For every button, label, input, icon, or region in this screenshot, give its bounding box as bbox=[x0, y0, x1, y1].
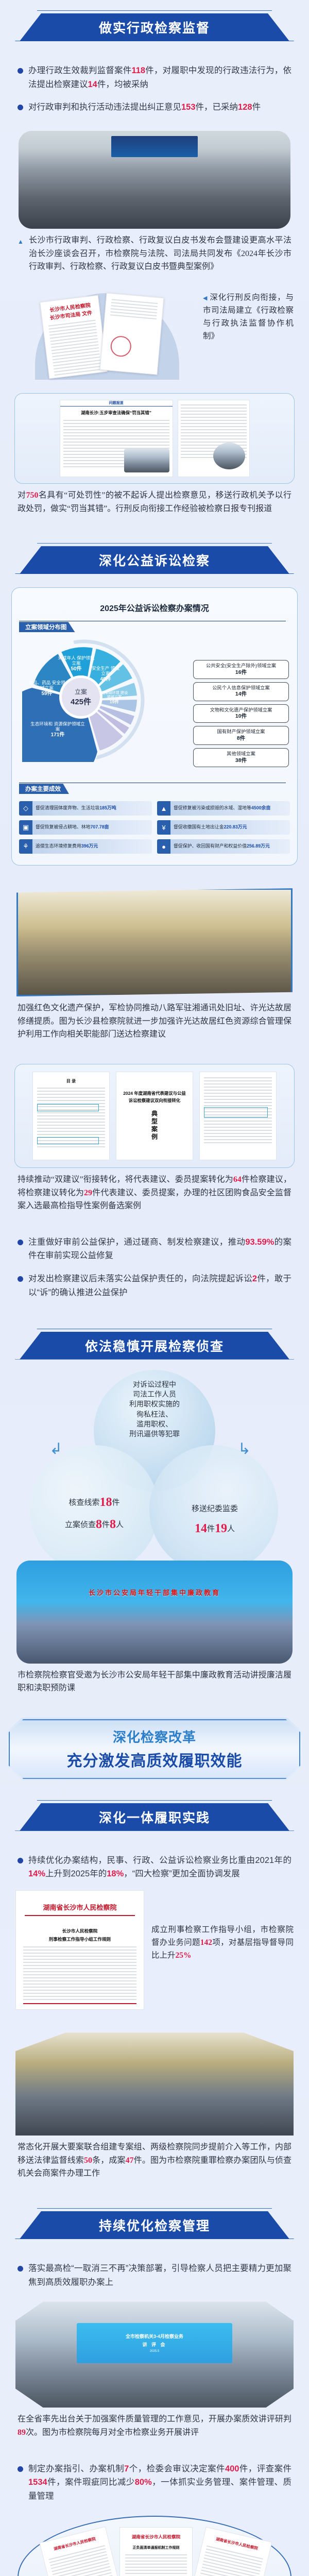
yuan-icon: ¥ bbox=[157, 820, 170, 835]
spacer bbox=[0, 380, 309, 393]
bullet-item: 落实最高检“一取消三不再”决策部署，引导检察人员把主要精力更加聚焦到高质效履职办… bbox=[18, 2262, 291, 2289]
bullet-text: 注重做好审前公益保护，通过磋商、制发检察建议，推动93.59%的案件在审前实现公… bbox=[28, 1235, 291, 1263]
waste-icon: ◇ bbox=[19, 801, 32, 816]
effect-text: 督促收缴国有土地出让金220.83万元 bbox=[170, 820, 290, 835]
document-fan: 长沙市人民检察院长沙市司法局 文件 bbox=[15, 287, 196, 380]
doc-title: 正负面清单通报机制工作规则 bbox=[120, 2540, 192, 2550]
photo-block-red-heritage bbox=[0, 888, 309, 996]
triangle-marker-icon: ▲ bbox=[18, 237, 25, 274]
photo-caption-police-training: 市检察院检察官受邀为长沙市公安局年轻干部集中廉政教育活动讲授廉洁履职和渎职预防课 bbox=[0, 1664, 309, 1695]
subhead-distribution: 立案领域分布图 bbox=[19, 621, 290, 632]
books-panel: 目 录 2024 年度湖南省代表建议与公益诉讼检察建议双向衔接转化 典型案例 bbox=[14, 1064, 295, 1168]
spacer bbox=[0, 2180, 309, 2211]
bullet-list-administrative: 办理行政生效裁判监督案件118件，对履职中发现的行政违法行为，依法提出检察建议1… bbox=[0, 64, 309, 114]
venn-left-row-2: 立案侦查8件8人 bbox=[34, 1518, 154, 1532]
spacer bbox=[0, 1041, 309, 1064]
eco-icon: ⚘ bbox=[19, 839, 32, 854]
newspaper-headline: 湖南长沙:五步审查法确保“罚当其错” bbox=[60, 406, 173, 417]
newspaper-page-1: 问题报道 湖南长沙:五步审查法确保“罚当其错” bbox=[60, 400, 173, 477]
spacer bbox=[0, 515, 309, 546]
venn-right-text: 移送纪委监委 14件19人 bbox=[154, 1503, 275, 1536]
newspaper-page-2 bbox=[178, 400, 250, 477]
callout-personal-info: 公民个人信息保护领域立案 14件 bbox=[193, 682, 289, 701]
bullet-dot-icon bbox=[18, 1858, 23, 1863]
banner-title: 依法稳慎开展检察侦查 bbox=[85, 1336, 224, 1355]
spacer bbox=[0, 1695, 309, 1718]
center-caption: 立案 bbox=[75, 687, 87, 696]
rules-doc-center: 湖南省长沙市人民检察院 正负面清单通报机制工作规则 bbox=[119, 2527, 193, 2576]
farmland-icon: ▣ bbox=[19, 820, 32, 835]
venn-diagram-investigation: ↲ ↲ 对诉讼过程中司法工作人员利用职权实施的徇私枉法、滥用职权、刑讯逼供等犯罪… bbox=[0, 1368, 309, 1538]
bullet-item: 对行政审判和执行活动违法提出纠正意见153件，已采纳128件 bbox=[18, 100, 291, 114]
document-red-title: 长沙市人民检察院长沙市司法局 文件 bbox=[40, 296, 100, 322]
spacer bbox=[0, 574, 309, 587]
venn-right-row-1: 移送纪委监委 bbox=[154, 1503, 275, 1514]
subhead-rule bbox=[19, 621, 286, 621]
case-meeting-photo bbox=[15, 2032, 294, 2136]
screen-line-1: 全市检察机关3-4月检察业务 bbox=[126, 2333, 183, 2340]
photo-block-case-meeting bbox=[0, 2032, 309, 2136]
newspaper-panel: 问题报道 湖南长沙:五步审查法确保“罚当其错” bbox=[14, 393, 295, 484]
slice-label-food-drug: 食品、药品 安全领域立案 59件 bbox=[27, 681, 66, 697]
bullet-dot-icon bbox=[18, 1240, 23, 1245]
section-banner-public-interest: 深化公益诉讼检察 bbox=[0, 546, 309, 574]
center-value: 425件 bbox=[71, 696, 91, 707]
highlight-box bbox=[37, 1137, 99, 1144]
photo-block-review-meeting: 全市检察机关3-4月检察业务 讲 评 会 2025.5 bbox=[0, 2298, 309, 2408]
chart-title: 2025年公益诉讼检察办案情况 bbox=[19, 601, 290, 614]
photo-caption-whitepaper: ▲ 长沙市行政审判、行政检察、行政复议白皮书发布会暨建设更高水平法治长沙座谈会召… bbox=[0, 229, 309, 274]
water-icon: ▲ bbox=[157, 801, 170, 816]
spacer bbox=[0, 274, 309, 287]
rules-doc-fan: 湖南省长沙市人民检察院 湖南省长沙市人民检察院 正负面清单通报机制工作规则 湖南… bbox=[0, 2513, 309, 2576]
bullet-item: 制定办案指引、办案机制7个，检委会审议决定案件400件，评查案件1534件，案件… bbox=[18, 2462, 291, 2503]
photo-block-police-training: 长沙市公安局年轻干部集中廉政教育 bbox=[0, 1561, 309, 1664]
book-page-toc: 目 录 bbox=[32, 1072, 110, 1160]
effect-chip: ¥ 督促收缴国有土地出让金220.83万元 bbox=[157, 820, 290, 835]
document-page-left: 长沙市人民检察院长沙市司法局 文件 bbox=[40, 295, 107, 379]
moneybag-icon: ● bbox=[157, 839, 170, 854]
slice-label-accessibility: 无障碍环境 建设领域立案 19件 bbox=[99, 691, 129, 704]
bullet-text: 对发出检察建议后未落实公益保护责任的，向法院提起诉讼2件，敢于以“诉”的确认推进… bbox=[28, 1272, 291, 1299]
toc-heading: 目 录 bbox=[33, 1072, 109, 1084]
doc-red-title: 湖南省长沙市人民检察院 bbox=[120, 2528, 192, 2540]
spacer bbox=[0, 866, 309, 888]
bullet-item: 对发出检察建议后未落实公益保护责任的，向法院提起诉讼2件，敢于以“诉”的确认推进… bbox=[18, 1272, 291, 1299]
venn-left-text: 核查线索18件 立案侦查8件8人 bbox=[34, 1496, 154, 1532]
photo-caption-case-meeting: 常态化开展大要案联合组建专案组、两级检察院同步提前介入等工作，内部移送法律监督线… bbox=[0, 2136, 309, 2180]
spacer bbox=[0, 1831, 309, 1854]
banner-title: 深化一体履职实践 bbox=[99, 1808, 210, 1826]
slice-label-ecology: 生态环境和 资源保护领域立案 171件 bbox=[30, 722, 85, 738]
screen-date: 2025.5 bbox=[150, 2350, 159, 2353]
bullet-text: 落实最高检“一取消三不再”决策部署，引导检察人员把主要精力更加聚焦到高质效履职办… bbox=[28, 2262, 291, 2289]
spacer bbox=[0, 2439, 309, 2462]
triangle-marker-icon: ◀ bbox=[203, 295, 208, 301]
newspaper-inset-photo bbox=[124, 449, 169, 472]
caption-dual-suggestions: 持续推动“双建议”衔接转化，将代表建议、委员提案转化为64件检察建议，将检察建议… bbox=[0, 1168, 309, 1213]
callout-state-property: 国有财产保护领域立案 8件 bbox=[193, 726, 289, 745]
highlight-box bbox=[37, 1104, 99, 1111]
slice-label-safety-production: 安全生产 领域立案 40件 bbox=[91, 666, 120, 682]
banner-title: 持续优化检察管理 bbox=[99, 2216, 210, 2234]
banner-title: 深化公益诉讼检察 bbox=[99, 551, 210, 569]
caption-reverse-linkage: 对750名具有“可处罚性”的被不起诉人提出检察意见，移送行政机关予以行政处罚，做… bbox=[0, 484, 309, 515]
effect-chip: ⚘ 追偿生态环境修复费用396万元 bbox=[19, 839, 152, 854]
mega-banner-line-1: 深化检察改革 bbox=[113, 1727, 196, 1746]
bullet-list-integrated-duty: 持续优化办案结构，民事、行政、公益诉讼检察业务比重由2021年的14%上升到20… bbox=[0, 1854, 309, 1881]
effect-chip: ▣ 督促恢复被侵占耕地、林地707.78亩 bbox=[19, 820, 152, 835]
callout-other: 其他领域立案 38件 bbox=[193, 748, 289, 767]
document-title-2: 刑事检察工作指导小组工作规则 bbox=[16, 1936, 144, 1943]
cooperation-text-body: 深化行刑反向衔接，与市司法局建立《行政检察与行政执法监督协作机制》 bbox=[203, 293, 294, 341]
venn-left-row-1: 核查线索18件 bbox=[34, 1496, 154, 1510]
spacer bbox=[0, 1309, 309, 1332]
newspaper-inset-photo-round bbox=[213, 443, 245, 469]
document-footer-rule bbox=[23, 2003, 136, 2004]
spacer bbox=[0, 1781, 309, 1803]
bullet-text: 办理行政生效裁判监督案件118件，对履职中发现的行政违法行为，依法提出检察建议1… bbox=[28, 64, 291, 91]
doc-and-text-cooperation: 长沙市人民检察院长沙市司法局 文件 ◀深化行刑反向衔接，与市司法局建立《行政检察… bbox=[0, 287, 309, 380]
effect-chip-grid: ◇ 督促清理固体废弃物、生活垃圾185万吨 ▲ 督促修复被污染或损毁的水域、湿地… bbox=[19, 801, 290, 854]
screen-banner-text: 长沙市公安局年轻干部集中廉政教育 bbox=[16, 1587, 293, 1597]
cooperation-text: ◀深化行刑反向衔接，与市司法局建立《行政检察与行政执法监督协作机制》 bbox=[203, 287, 294, 343]
doc-and-text-guidance: 湖南省长沙市人民检察院 长沙市人民检察院 刑事检察工作指导小组工作规则 成立刑事… bbox=[0, 1890, 309, 2010]
banner-title: 做实行政检察监督 bbox=[99, 18, 210, 37]
mega-section-banner-reform: 深化检察改革 充分激发高质效履职效能 bbox=[7, 1718, 302, 1781]
photo-block-whitepaper bbox=[0, 124, 309, 229]
arrow-left-icon: ↲ bbox=[49, 1440, 62, 1458]
arrow-right-icon: ↲ bbox=[238, 1440, 251, 1458]
effect-text: 追偿生态环境修复费用396万元 bbox=[32, 839, 152, 854]
subhead-tag: 立案领域分布图 bbox=[19, 622, 75, 632]
spacer bbox=[0, 2239, 309, 2262]
conference-photo bbox=[19, 131, 290, 229]
effect-text: 督促保护、收回国有财产和权益价值256.89万元 bbox=[170, 839, 290, 854]
callout-cultural-heritage: 文物和文化遗产保护领域立案 10件 bbox=[193, 704, 289, 723]
donut-chart: 立案 425件 食品、药品 安全领域立案 59件 未成年人 保护领域立案 50件… bbox=[19, 635, 290, 773]
document-lines bbox=[48, 320, 101, 372]
photo-caption-review-meeting: 在全省率先出台关于加强案件质量管理的工作意见，开展办案质效讲评研判89次。图为市… bbox=[0, 2408, 309, 2439]
doc-lines bbox=[125, 2554, 187, 2576]
document-page-right bbox=[100, 293, 164, 375]
bullet-dot-icon bbox=[18, 1276, 23, 1282]
screen-line-2: 讲 评 会 bbox=[142, 2341, 166, 2348]
photo-caption-red-heritage: 加强红色文化遗产保护，军检协同推动八路军驻湘通讯处旧址、许光达故居修缮提质。图为… bbox=[0, 996, 309, 1041]
chart-card-public-interest: 2025年公益诉讼检察办案情况 立案领域分布图 bbox=[11, 587, 298, 866]
section-banner-administrative: 做实行政检察监督 bbox=[0, 13, 309, 41]
venn-top-text: 对诉讼过程中司法工作人员利用职权实施的徇私枉法、滥用职权、刑讯逼供等犯罪 bbox=[101, 1380, 208, 1440]
effect-text: 督促清理固体废弃物、生活垃圾185万吨 bbox=[32, 801, 152, 816]
mega-banner-line-2: 充分激发高质效履职效能 bbox=[67, 1748, 243, 1771]
bullet-dot-icon bbox=[18, 105, 23, 110]
signing-photo bbox=[16, 888, 293, 996]
newspaper-kicker: 问题报道 bbox=[109, 400, 124, 405]
bullet-item: 注重做好审前公益保护，通过磋商、制发检察建议，推动93.59%的案件在审前实现公… bbox=[18, 1235, 291, 1263]
caption-text: 长沙市行政审判、行政检察、行政复议白皮书发布会暨建设更高水平法治长沙座谈会召开，… bbox=[29, 234, 291, 274]
document-red-header: 湖南省长沙市人民检察院 bbox=[16, 1891, 144, 1912]
bullet-text: 对行政审判和执行活动违法提出纠正意见153件，已采纳128件 bbox=[28, 100, 261, 114]
book-title: 2024 年度湖南省代表建议与公益诉讼检察建议双向衔接转化 bbox=[116, 1090, 193, 1104]
bullet-item: 办理行政生效裁判监督案件118件，对履职中发现的行政违法行为，依法提出检察建议1… bbox=[18, 64, 291, 91]
highlight-box bbox=[204, 1107, 268, 1117]
effect-chip: ▲ 督促修复被污染或损毁的水域、湿地等4500余亩 bbox=[157, 801, 290, 816]
bullet-list-management-2: 制定办案指引、办案机制7个，检委会审议决定案件400件，评查案件1534件，案件… bbox=[0, 2462, 309, 2503]
chart-callout-list: 公共安全(安全生产除外)领域立案 16件 公民个人信息保护领域立案 14件 文物… bbox=[193, 660, 289, 767]
slice-label-minors: 未成年人 保护领域立案 50件 bbox=[57, 656, 95, 672]
document-lines bbox=[106, 299, 158, 367]
effect-text: 督促修复被污染或损毁的水域、湿地等4500余亩 bbox=[170, 801, 290, 816]
spacer bbox=[0, 1213, 309, 1235]
subhead-tag: 办案主要成效 bbox=[19, 784, 69, 794]
effect-text: 督促恢复被侵占耕地、林地707.78亩 bbox=[32, 820, 152, 835]
police-training-photo: 长沙市公安局年轻干部集中廉政教育 bbox=[16, 1561, 293, 1664]
book-word: 典型案例 bbox=[150, 1110, 159, 1141]
effect-chip: ● 督促保护、收回国有财产和权益价值256.89万元 bbox=[157, 839, 290, 854]
section-banner-integrated-duty: 深化一体履职实践 bbox=[0, 1803, 309, 1831]
review-meeting-photo: 全市检察机关3-4月检察业务 讲 评 会 2025.5 bbox=[15, 2301, 294, 2408]
section-banner-investigation: 依法稳慎开展检察侦查 bbox=[0, 1332, 309, 1360]
spacer bbox=[0, 2010, 309, 2032]
subhead-rule bbox=[19, 783, 286, 783]
section-banner-management: 持续优化检察管理 bbox=[0, 2211, 309, 2239]
spacer bbox=[0, 41, 309, 64]
work-rules-document: 湖南省长沙市人民检察院 长沙市人民检察院 刑事检察工作指导小组工作规则 bbox=[15, 1890, 144, 2010]
bullet-dot-icon bbox=[18, 2466, 23, 2472]
effect-chip: ◇ 督促清理固体废弃物、生活垃圾185万吨 bbox=[19, 801, 152, 816]
bullet-list-public-interest: 注重做好审前公益保护，通过磋商、制发检察建议，推动93.59%的案件在审前实现公… bbox=[0, 1235, 309, 1300]
callout-public-safety: 公共安全(安全生产除外)领域立案 16件 bbox=[193, 660, 289, 679]
bullet-text: 持续优化办案结构，民事、行政、公益诉讼检察业务比重由2021年的14%上升到20… bbox=[28, 1854, 291, 1881]
venn-right-row-2: 14件19人 bbox=[154, 1522, 275, 1536]
bullet-item: 持续优化办案结构，民事、行政、公益诉讼检察业务比重由2021年的14%上升到20… bbox=[18, 1854, 291, 1881]
book-cover: 2024 年度湖南省代表建议与公益诉讼检察建议双向衔接转化 典型案例 bbox=[116, 1072, 193, 1160]
book-page-toc-2 bbox=[199, 1072, 277, 1160]
subhead-effect: 办案主要成效 bbox=[19, 783, 290, 794]
guidance-side-text: 成立刑事检察工作指导小组，市检察院督办业务问题142项，对基层指导督导同比上升2… bbox=[151, 1890, 294, 1962]
bullet-dot-icon bbox=[18, 68, 23, 74]
document-title-1: 长沙市人民检察院 bbox=[16, 1927, 144, 1935]
bullet-text: 制定办案指引、办案机制7个，检委会审议决定案件400件，评查案件1534件，案件… bbox=[28, 2462, 291, 2503]
bullet-list-management: 落实最高检“一取消三不再”决策部署，引导检察人员把主要精力更加聚焦到高质效履职办… bbox=[0, 2262, 309, 2289]
bullet-dot-icon bbox=[18, 2266, 23, 2272]
document-lines bbox=[23, 1946, 136, 2003]
